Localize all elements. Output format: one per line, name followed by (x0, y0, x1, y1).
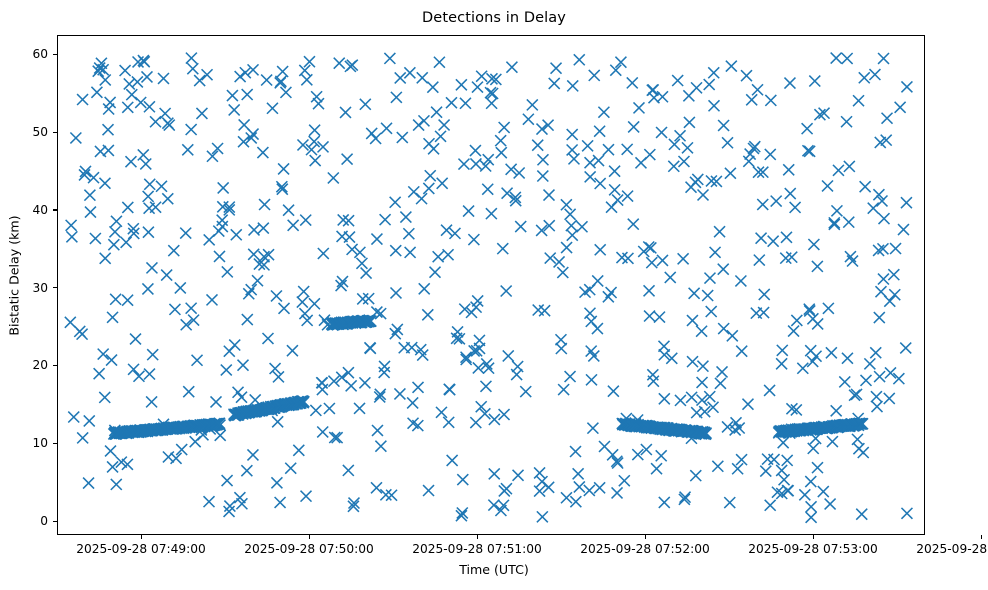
x-tick-mark (309, 535, 310, 539)
x-tick-mark (477, 535, 478, 539)
x-tick-mark (981, 535, 982, 539)
y-tick-label: 40 (0, 203, 48, 217)
matplotlib-figure: Detections in Delay Bistatic Delay (km) … (0, 0, 988, 590)
x-tick-label: 2025-09-28 07:50:00 (244, 542, 373, 556)
x-tick-mark (813, 535, 814, 539)
x-tick-mark (141, 535, 142, 539)
chart-title: Detections in Delay (0, 10, 988, 26)
y-tick-label: 30 (0, 281, 48, 295)
y-tick-label: 0 (0, 514, 48, 528)
x-tick-label: 2025-09-28 07:51:00 (412, 542, 541, 556)
y-tick-label: 60 (0, 47, 48, 61)
x-axis-label: Time (UTC) (0, 562, 988, 577)
x-tick-label: 2025-09-28 07:49:00 (76, 542, 205, 556)
x-tick-mark (645, 535, 646, 539)
scatter-points-layer (58, 36, 924, 534)
y-tick-label: 10 (0, 436, 48, 450)
y-tick-label: 50 (0, 125, 48, 139)
x-tick-label: 2025-09-28 07:52:00 (580, 542, 709, 556)
y-tick-label: 20 (0, 358, 48, 372)
x-tick-label: 2025-09-28 07:53:00 (748, 542, 877, 556)
plot-area (57, 35, 925, 535)
x-tick-label: 2025-09-28 07:54:00 (916, 542, 988, 556)
